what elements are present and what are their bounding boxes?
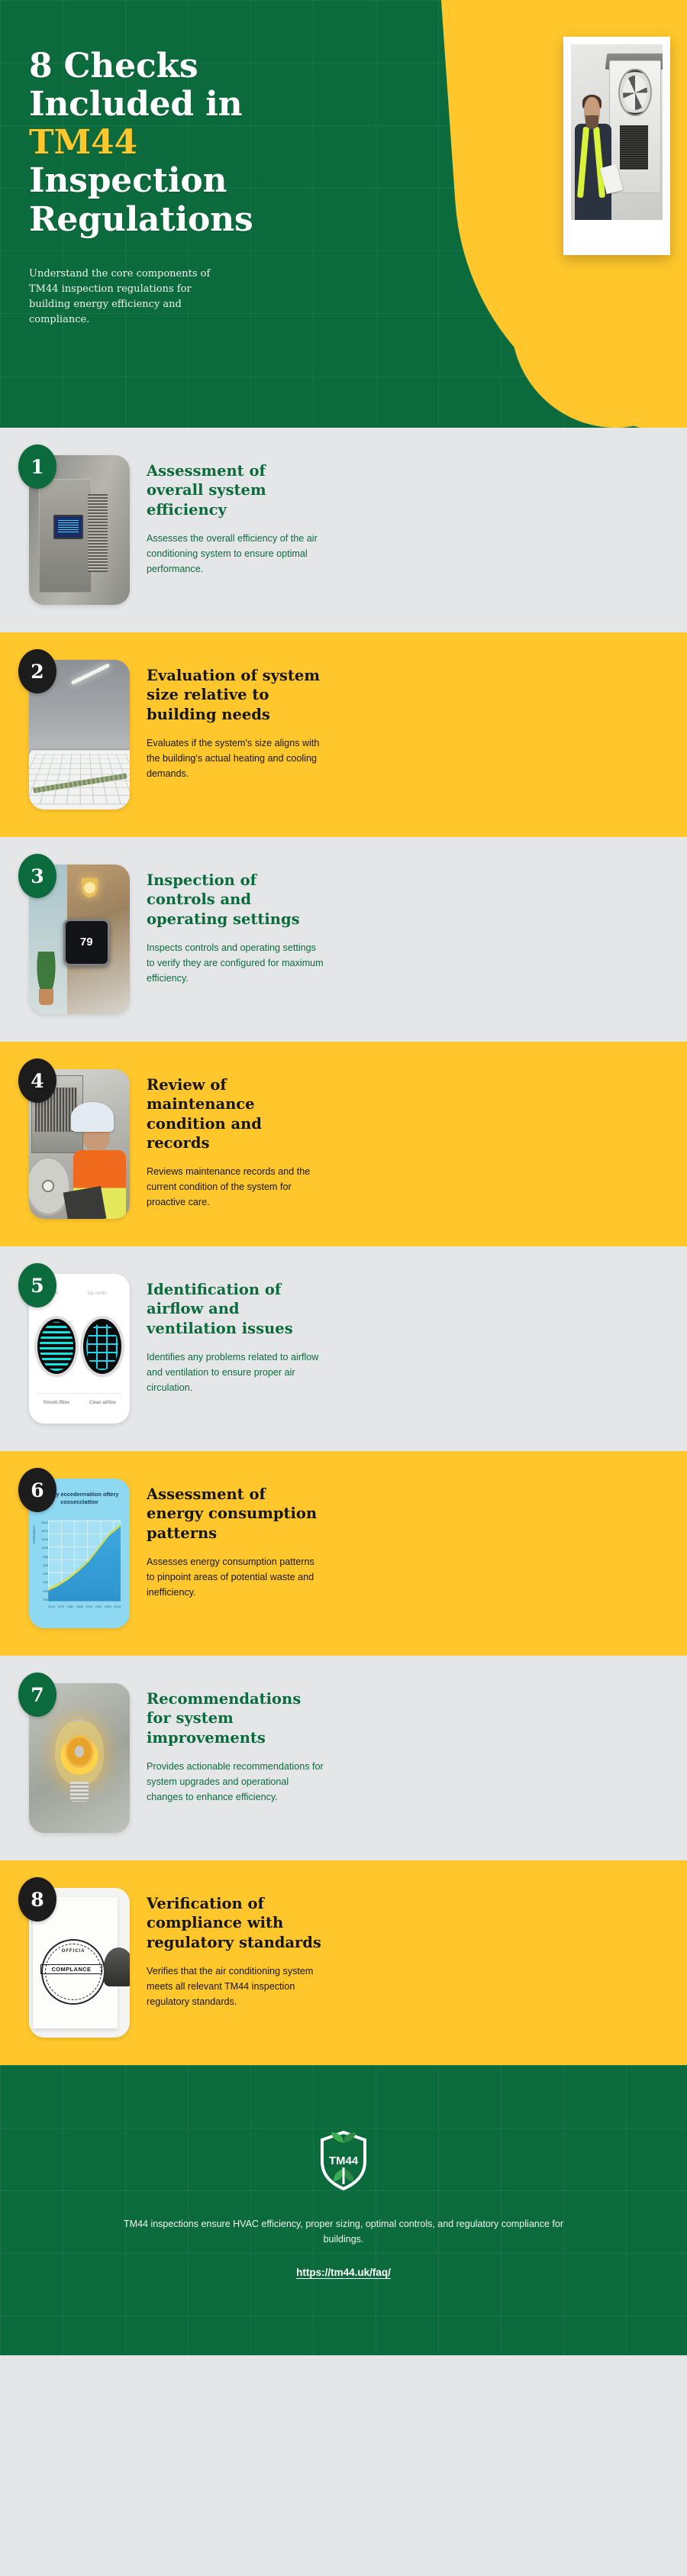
- footer-content: TM44 TM44 inspections ensure HVAC effici…: [40, 2131, 647, 2280]
- plant-pot: [39, 989, 53, 1006]
- title-accent-tm44: TM44: [29, 124, 250, 162]
- check-3-number-badge: 3: [18, 854, 56, 898]
- check-8-number-badge: 8: [18, 1877, 56, 1921]
- check-2-number-badge: 2: [18, 649, 56, 693]
- header-subtitle: Understand the core components of TM44 i…: [29, 267, 227, 328]
- check-1-number-badge: 1: [18, 444, 56, 489]
- check-item-1: 1 Assessment of overall system efficienc…: [0, 428, 687, 632]
- footer-website-link[interactable]: https://tm44.uk/faq/: [296, 2267, 391, 2278]
- svg-text:TM44: TM44: [329, 2154, 359, 2167]
- check-3-description: Inspects controls and operating settings…: [147, 941, 324, 987]
- check-4-number-badge: 4: [18, 1059, 56, 1103]
- ac-coil-grille: [618, 124, 650, 171]
- check-5-number-badge: 5: [18, 1263, 56, 1307]
- tm44-shield-logo: TM44: [319, 2131, 368, 2190]
- check-8-description: Verifies that the air conditioning syste…: [147, 1964, 324, 2010]
- check-6-description: Assesses energy consumption patterns to …: [147, 1555, 324, 1601]
- chart-plot-area: [48, 1521, 121, 1602]
- chart-x-tick: 2000: [85, 1605, 92, 1608]
- check-3-body: Inspection of controls and operating set…: [147, 865, 667, 987]
- title-line-1: 8 Checks: [29, 47, 198, 86]
- check-5-description: Identifies any problems related to airfl…: [147, 1350, 324, 1396]
- chart-x-tick: 1560: [67, 1605, 74, 1608]
- check-4-title: Review of maintenance condition and reco…: [147, 1075, 326, 1152]
- gear-icon: [67, 1737, 92, 1766]
- infographic-page: 8 Checks Included in TM44 Inspection Reg…: [0, 0, 687, 2355]
- hero-photo-image: [571, 44, 663, 220]
- rack-display-screen: [53, 515, 84, 538]
- chart-y-tick: 600: [39, 1563, 48, 1567]
- check-8-body: Verification of compliance with regulato…: [147, 1888, 667, 2010]
- title-line-4: Regulations: [29, 200, 253, 239]
- check-4-body: Review of maintenance condition and reco…: [147, 1069, 667, 1210]
- chart-x-tick: 1836: [76, 1605, 83, 1608]
- check-7-thumb-wrap: 7: [29, 1683, 130, 1833]
- rack-vent-icon: [88, 494, 108, 572]
- footer-section: TM44 TM44 inspections ensure HVAC effici…: [0, 2065, 687, 2355]
- chart-y-axis-label: Conlsumpce: [32, 1526, 36, 1544]
- chart-x-tick: 2020: [95, 1605, 102, 1608]
- hero-photo-frame: [563, 37, 670, 255]
- check-item-3: 3 79 Inspection of controls and operatin…: [0, 837, 687, 1042]
- airflow-label-right: Up vents: [88, 1291, 107, 1296]
- chart-y-tick: 680: [39, 1555, 48, 1559]
- technician-figure: [575, 97, 611, 220]
- check-2-description: Evaluates if the system's size aligns wi…: [147, 736, 324, 782]
- check-1-thumb-wrap: 1: [29, 455, 130, 605]
- check-8-title: Verification of compliance with regulato…: [147, 1894, 326, 1952]
- check-5-body: Identification of airflow and ventilatio…: [147, 1274, 667, 1396]
- stamper-tool-icon: [104, 1947, 130, 1986]
- chart-y-axis-ticks: 2600350010001400680600900900900050: [39, 1521, 48, 1602]
- chart-x-tick: 1275: [57, 1605, 64, 1608]
- page-title: 8 Checks Included in TM44 Inspection Reg…: [29, 47, 250, 239]
- check-2-title: Evaluation of system size relative to bu…: [147, 666, 326, 724]
- ceiling-lamp-icon: [71, 663, 111, 685]
- chart-y-tick: 900: [39, 1589, 48, 1593]
- check-2-thumb-wrap: 2: [29, 660, 130, 810]
- check-item-8: 8 OFFICIA COMPLANCE Verification of comp…: [0, 1860, 687, 2065]
- airflow-caption-left: Smoott ifflow: [36, 1401, 76, 1405]
- check-1-body: Assessment of overall system efficiency …: [147, 455, 667, 577]
- check-5-title: Identification of airflow and ventilatio…: [147, 1280, 326, 1338]
- chart-y-tick: 3500: [39, 1529, 48, 1533]
- hard-hat-icon: [71, 1102, 113, 1132]
- check-8-thumb-wrap: 8 OFFICIA COMPLANCE: [29, 1888, 130, 2038]
- thermostat-temperature: 79: [80, 936, 93, 949]
- check-7-number-badge: 7: [18, 1673, 56, 1717]
- airflow-caption-right: Clean airflow: [82, 1401, 123, 1405]
- stamp-top-word: OFFICIA: [45, 1949, 102, 1954]
- chart-y-tick: 900: [39, 1580, 48, 1584]
- chart-y-tick: 1400: [39, 1546, 48, 1550]
- chart-y-tick: 900: [39, 1572, 48, 1576]
- check-item-2: 2 Evaluation of system size relative to …: [0, 632, 687, 837]
- check-item-5: 5 Smooth Up vents Smoott ifflow Clean ai…: [0, 1246, 687, 1451]
- check-6-body: Assessment of energy consumption pattern…: [147, 1479, 667, 1601]
- check-7-body: Recommendations for system improvements …: [147, 1683, 667, 1805]
- chart-y-tick: 2600: [39, 1521, 48, 1524]
- airflow-divider: [37, 1393, 122, 1394]
- header-section: 8 Checks Included in TM44 Inspection Reg…: [0, 0, 687, 428]
- stamp-main-word: COMPLANCE: [40, 1964, 103, 1974]
- check-3-thumb-wrap: 3 79: [29, 865, 130, 1014]
- check-4-thumb-wrap: 4: [29, 1069, 130, 1219]
- check-2-body: Evaluation of system size relative to bu…: [147, 660, 667, 782]
- check-5-thumb-wrap: 5 Smooth Up vents Smoott ifflow Clean ai…: [29, 1274, 130, 1424]
- chart-x-tick: 2013: [48, 1605, 55, 1608]
- chart-x-tick: 2000: [105, 1605, 111, 1608]
- check-4-description: Reviews maintenance records and the curr…: [147, 1165, 324, 1210]
- lightbulb-base: [70, 1782, 89, 1801]
- check-item-6: 6 Energy eccederrraition oftery cosseccl…: [0, 1451, 687, 1656]
- check-6-thumb-wrap: 6 Energy eccederrraition oftery cosseccl…: [29, 1479, 130, 1628]
- check-6-title: Assessment of energy consumption pattern…: [147, 1485, 326, 1543]
- title-line-2: Included in: [29, 85, 242, 124]
- pendant-light-icon: [82, 878, 98, 897]
- footer-summary: TM44 inspections ensure HVAC efficiency,…: [107, 2216, 580, 2247]
- thermostat-device: 79: [63, 919, 110, 967]
- chart-x-axis-ticks: 20131275156018362000202020002004: [48, 1605, 121, 1608]
- chart-y-tick: 050: [39, 1598, 48, 1602]
- smooth-airflow-vent-icon: [37, 1319, 76, 1375]
- chart-x-tick: 2004: [114, 1605, 121, 1608]
- check-item-7: 7 Recommendations for system improvement…: [0, 1656, 687, 1860]
- clean-airflow-vent-icon: [83, 1319, 121, 1375]
- check-3-title: Inspection of controls and operating set…: [147, 871, 326, 929]
- title-line-3: Inspection: [29, 161, 227, 200]
- check-7-title: Recommendations for system improvements: [147, 1689, 326, 1747]
- ac-fan-icon: [618, 69, 651, 116]
- check-1-description: Assesses the overall efficiency of the a…: [147, 532, 324, 577]
- check-7-description: Provides actionable recommendations for …: [147, 1760, 324, 1805]
- check-6-number-badge: 6: [18, 1468, 56, 1512]
- chart-y-tick: 1000: [39, 1537, 48, 1541]
- check-item-4: 4 Review of maintenance condition and re…: [0, 1042, 687, 1246]
- clipboard-icon: [63, 1186, 106, 1219]
- check-1-title: Assessment of overall system efficiency: [147, 461, 326, 519]
